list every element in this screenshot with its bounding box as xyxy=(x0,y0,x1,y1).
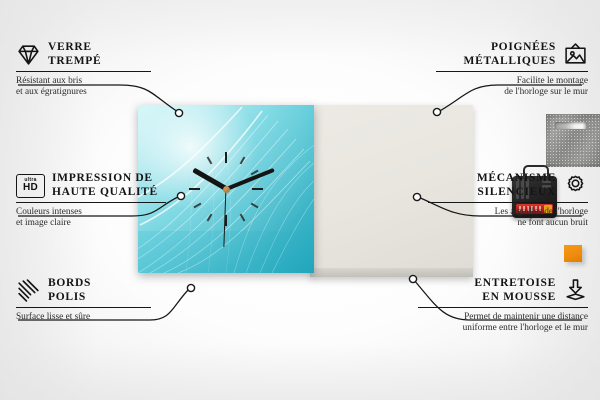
callout-title: VERRE TREMPÉ xyxy=(48,41,101,68)
ultra-hd-icon-main: HD xyxy=(23,183,38,193)
callout-title: IMPRESSION DE HAUTE QUALITÉ xyxy=(52,172,158,199)
connector-dot-mecanisme xyxy=(413,193,420,200)
callout-rule xyxy=(16,71,151,72)
gear-icon xyxy=(563,173,588,198)
callout-rule xyxy=(418,307,588,308)
callout-poignees-metalliques: POIGNÉES MÉTALLIQUES Facilite le montage… xyxy=(436,41,588,98)
connector-dot-poignees xyxy=(433,108,440,115)
callout-rule xyxy=(436,71,588,72)
callout-mecanisme-silencieux: MÉCANISME SILENCIEUX Les aiguilles de l'… xyxy=(428,172,588,229)
callout-rule xyxy=(428,202,588,203)
callout-entretoise-en-mousse: ENTRETOISE EN MOUSSE Permet de maintenir… xyxy=(418,277,588,334)
callout-subtitle: Surface lisse et sûre xyxy=(16,312,151,323)
callout-rule xyxy=(16,202,166,203)
hanging-frame-icon xyxy=(563,42,588,67)
callout-subtitle: Permet de maintenir une distance uniform… xyxy=(418,312,588,334)
diamond-icon xyxy=(16,42,41,67)
connector-dot-bords xyxy=(187,284,194,291)
callout-subtitle: Les aiguilles de l'horloge ne font aucun… xyxy=(428,207,588,229)
callout-title: BORDS POLIS xyxy=(48,277,91,304)
callout-title: ENTRETOISE EN MOUSSE xyxy=(474,277,556,304)
callout-title: POIGNÉES MÉTALLIQUES xyxy=(464,41,556,68)
polished-edges-icon xyxy=(16,278,41,303)
callout-title: MÉCANISME SILENCIEUX xyxy=(477,172,556,199)
callout-subtitle: Facilite le montage de l'horloge sur le … xyxy=(436,76,588,98)
connector-dot-impression xyxy=(177,192,184,199)
callout-verre-trempe: VERRE TREMPÉ Résistant aux bris et aux é… xyxy=(16,41,151,98)
callout-subtitle: Résistant aux bris et aux égratignures xyxy=(16,76,151,98)
callout-impression-haute-qualite: ultra HD IMPRESSION DE HAUTE QUALITÉ Cou… xyxy=(16,172,166,229)
callout-subtitle: Couleurs intenses et image claire xyxy=(16,207,166,229)
callout-rule xyxy=(16,307,151,308)
arrow-stack-icon xyxy=(563,278,588,303)
connector-dot-verre xyxy=(175,109,182,116)
infographic-canvas: VERRE TREMPÉ Résistant aux bris et aux é… xyxy=(0,0,600,400)
connector-dot-entretoise xyxy=(409,275,416,282)
ultra-hd-icon: ultra HD xyxy=(16,174,45,198)
callout-bords-polis: BORDS POLIS Surface lisse et sûre xyxy=(16,277,151,323)
